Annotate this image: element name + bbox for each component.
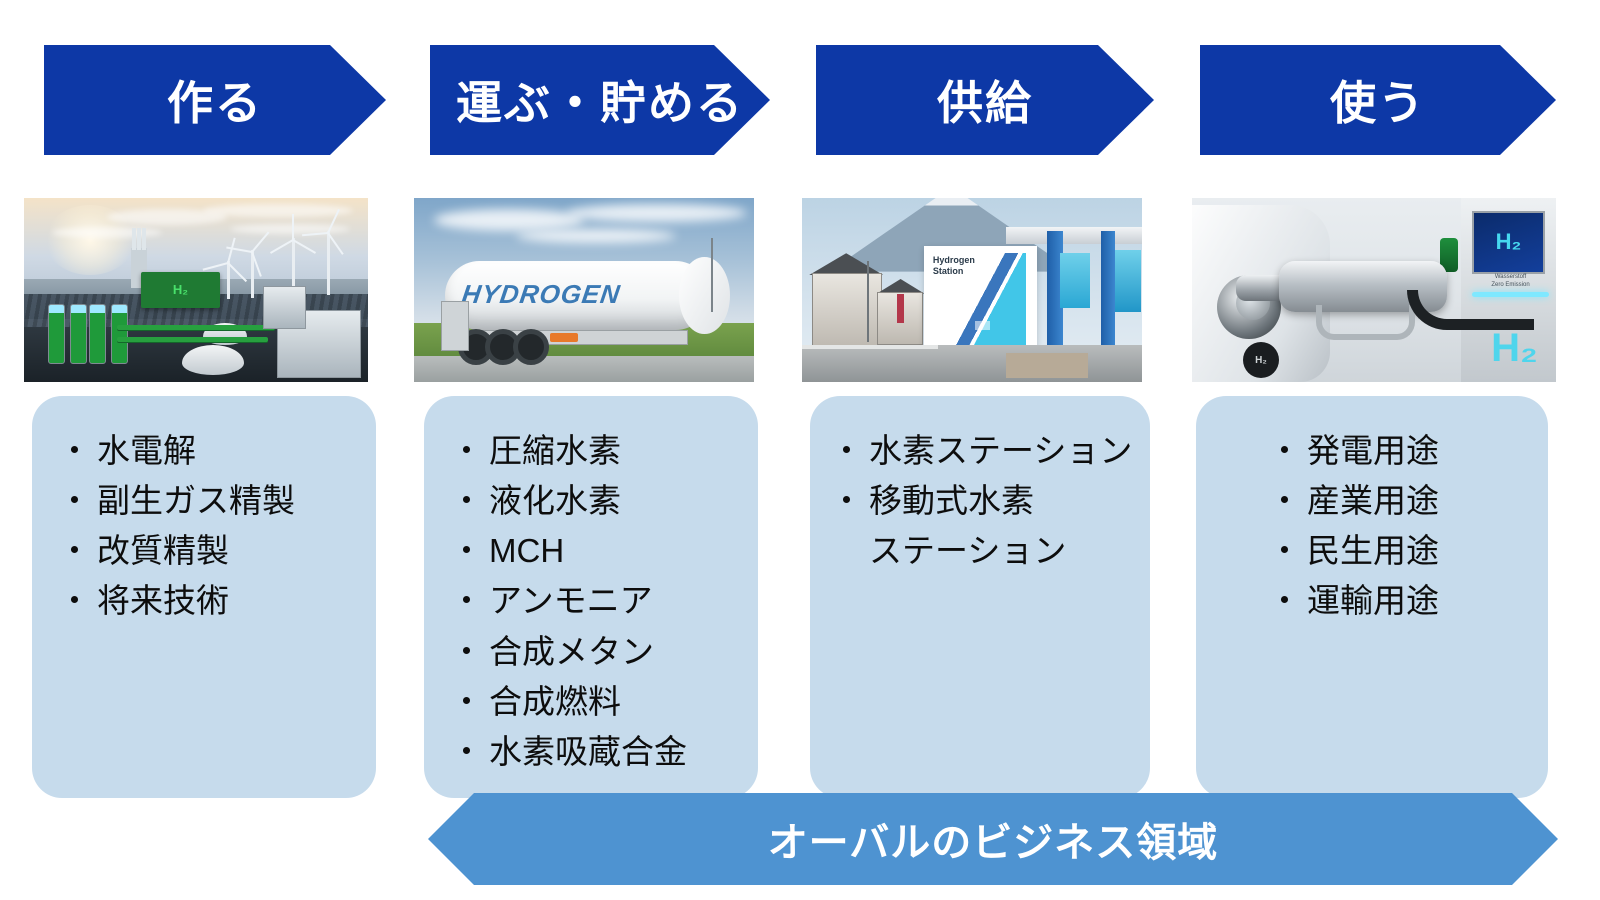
bullet-list: ・発電用途 ・産業用途 ・民生用途 ・運輸用途 <box>1196 412 1548 627</box>
list-item: ・改質精製 <box>58 526 376 576</box>
list-item-label: 合成燃料 <box>489 677 621 727</box>
list-item-label: 液化水素 <box>489 476 621 526</box>
stage-banner-label: 使う <box>1330 67 1426 133</box>
stage-card-make: ・水電解 ・副生ガス精製 ・改質精製 ・将来技術 <box>32 396 376 798</box>
h2-sign-label: H₂ <box>173 282 188 297</box>
canopy <box>1006 227 1142 244</box>
list-item: ・水素ステーション <box>830 426 1150 476</box>
stage-card-transport-store: ・圧縮水素 ・液化水素 ・MCH ・アンモニア ・合成メタン ・合成燃料 ・水素… <box>424 396 758 798</box>
list-item-label: 発電用途 <box>1307 426 1439 476</box>
hydrogen-value-chain-diagram: 作る 運ぶ・貯める 供給 使う H <box>0 0 1600 900</box>
concrete-base <box>1006 353 1088 379</box>
list-item: ・発電用途 <box>1268 426 1548 476</box>
stage-banner-supply[interactable]: 供給 <box>816 45 1154 155</box>
equipment-block <box>263 286 306 328</box>
bullet-marker: ・ <box>1268 526 1301 576</box>
stage-banner-use[interactable]: 使う <box>1200 45 1556 155</box>
dispenser-subtitle: Wasserstoff Zero Emission <box>1478 273 1544 289</box>
hydrogen-lettering: HYDROGEN <box>459 279 622 310</box>
list-item: ・合成メタン <box>450 627 758 677</box>
station-sign: Hydrogen Station <box>933 255 975 277</box>
stage-banner-transport-store[interactable]: 運ぶ・貯める <box>430 45 770 155</box>
list-item-label: 民生用途 <box>1307 526 1439 576</box>
bullet-marker: ・ <box>58 426 91 476</box>
h2-plant-building: H₂ <box>141 272 220 309</box>
list-item: ・圧縮水素 <box>450 426 758 476</box>
bullet-list: ・水素ステーション ・移動式水素 ステーション <box>810 412 1150 576</box>
list-item: ・副生ガス精製 <box>58 476 376 526</box>
hydrogen-tanker-truck-photo: HYDROGEN <box>414 198 754 382</box>
business-scope-arrow: オーバルのビジネス領域 <box>428 793 1558 885</box>
list-item-label: 水素ステーション <box>869 426 1132 476</box>
stage-banner-make[interactable]: 作る <box>44 45 386 155</box>
pipeline <box>117 337 268 342</box>
list-item-label: 副生ガス精製 <box>97 476 295 526</box>
list-item: ・産業用途 <box>1268 476 1548 526</box>
list-item-label: 移動式水素 ステーション <box>869 476 1066 576</box>
fuel-hose <box>1407 290 1534 330</box>
dispenser-panel <box>1060 253 1090 308</box>
list-item: ・合成燃料 <box>450 677 758 727</box>
bullet-marker: ・ <box>1268 476 1301 526</box>
dispenser-display-label: H₂ <box>1496 229 1522 255</box>
street-banner <box>897 294 904 323</box>
list-item-label: 水素吸蔵合金 <box>489 727 687 777</box>
bullet-list: ・圧縮水素 ・液化水素 ・MCH ・アンモニア ・合成メタン ・合成燃料 ・水素… <box>424 412 758 777</box>
stage-banner-label: 作る <box>167 67 263 133</box>
house <box>812 273 882 349</box>
bullet-marker: ・ <box>450 526 483 576</box>
bullet-marker: ・ <box>450 727 483 777</box>
ground <box>802 345 1142 382</box>
wind-turbine <box>251 250 254 298</box>
bullet-marker: ・ <box>58 526 91 576</box>
equipment-box <box>550 333 578 342</box>
light-pole <box>711 238 713 312</box>
hydrogen-refueling-nozzle-photo: H₂ Wasserstoff Zero Emission H₂ H₂ <box>1192 198 1556 382</box>
utility-pole <box>867 261 869 342</box>
bullet-marker: ・ <box>450 576 483 626</box>
canopy-column <box>1101 231 1115 363</box>
stage-banner-label: 供給 <box>937 67 1033 133</box>
bullet-marker: ・ <box>450 476 483 526</box>
bullet-marker: ・ <box>450 677 483 727</box>
stage-card-supply: ・水素ステーション ・移動式水素 ステーション <box>810 396 1150 798</box>
wheel <box>513 329 549 365</box>
control-cabinet <box>441 301 469 351</box>
list-item: ・将来技術 <box>58 576 376 626</box>
list-item-label: 水電解 <box>97 426 196 476</box>
dispenser-subtitle-line1: Wasserstoff <box>1478 273 1544 281</box>
list-item: ・MCH <box>450 526 758 576</box>
list-item-label: 産業用途 <box>1307 476 1439 526</box>
stage-banner-label: 運ぶ・貯める <box>456 67 744 133</box>
list-item-label: 将来技術 <box>97 576 229 626</box>
pipeline <box>117 325 275 330</box>
station-sign-line1: Hydrogen <box>933 255 975 266</box>
nozzle-trigger <box>1316 305 1415 340</box>
station-sign-line2: Station <box>933 266 975 277</box>
tanker-end-cap <box>679 257 730 334</box>
kerb <box>802 345 938 349</box>
dispenser-subtitle-line2: Zero Emission <box>1478 281 1544 289</box>
business-scope-label: オーバルのビジネス領域 <box>768 810 1219 868</box>
list-item: ・民生用途 <box>1268 526 1548 576</box>
list-item-label: 圧縮水素 <box>489 426 621 476</box>
list-item: ・水電解 <box>58 426 376 476</box>
dispenser-panel <box>1115 250 1141 313</box>
green-hydrogen-plant-photo: H₂ <box>24 198 368 382</box>
list-item: ・アンモニア <box>450 576 758 626</box>
list-item: ・水素吸蔵合金 <box>450 727 758 777</box>
bullet-marker: ・ <box>1268 576 1301 626</box>
electrolyzer-bank <box>48 304 87 364</box>
bullet-marker: ・ <box>830 476 863 526</box>
bullet-marker: ・ <box>58 576 91 626</box>
bullet-list: ・水電解 ・副生ガス精製 ・改質精製 ・将来技術 <box>32 412 376 627</box>
cloud <box>203 204 353 217</box>
list-item-label: アンモニア <box>489 576 653 626</box>
hydrogen-station-photo: Hydrogen Station <box>802 198 1142 382</box>
electrolyzer-bank <box>89 304 128 364</box>
bullet-marker: ・ <box>450 426 483 476</box>
stage-card-use: ・発電用途 ・産業用途 ・民生用途 ・運輸用途 <box>1196 396 1548 798</box>
wind-turbine <box>227 261 230 299</box>
list-item-label: 改質精製 <box>97 526 229 576</box>
list-item: ・液化水素 <box>450 476 758 526</box>
bullet-marker: ・ <box>58 476 91 526</box>
dispenser-display: H₂ <box>1472 211 1545 274</box>
bullet-marker: ・ <box>450 627 483 677</box>
list-item: ・運輸用途 <box>1268 576 1548 626</box>
bullet-marker: ・ <box>1268 426 1301 476</box>
cloud <box>567 204 747 222</box>
list-item-label: 運輸用途 <box>1307 576 1439 626</box>
list-item-label: 合成メタン <box>489 627 654 677</box>
bullet-marker: ・ <box>830 426 863 476</box>
cloud <box>434 209 584 231</box>
wind-turbine <box>327 231 330 295</box>
list-item: ・移動式水素 ステーション <box>830 476 1150 576</box>
dispenser-h2-logo: H₂ <box>1491 326 1538 371</box>
list-item-label: MCH <box>489 526 564 576</box>
